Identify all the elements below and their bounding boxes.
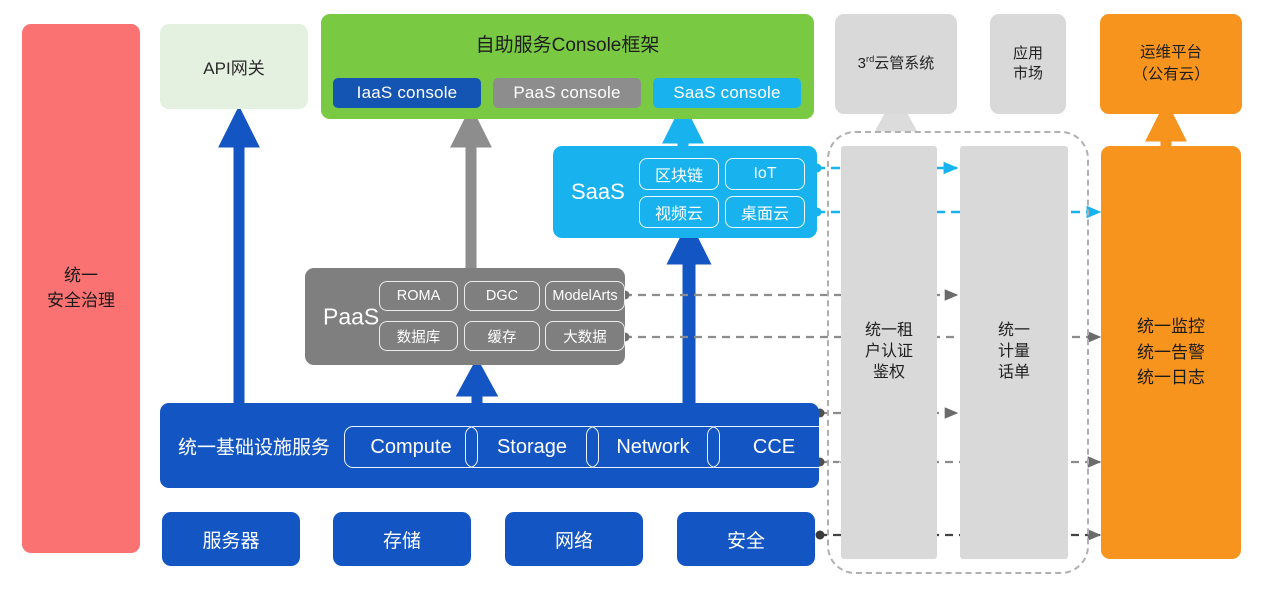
ops-pillar-line3: 统一日志 <box>1137 365 1205 391</box>
saas-chip-iot[interactable]: IoT <box>725 158 805 190</box>
unified-tenant-auth-column[interactable]: 统一租 户认证 鉴权 <box>841 146 937 559</box>
paas-chip-modelarts[interactable]: ModelArts <box>545 281 625 311</box>
paas-chip-roma[interactable]: ROMA <box>379 281 458 311</box>
link-dot <box>816 531 825 540</box>
ops-platform-line2: （公有云） <box>1132 64 1210 86</box>
saas-console-chip[interactable]: SaaS console <box>653 78 801 108</box>
infrastructure-label: 统一基础设施服务 <box>178 432 330 459</box>
third-party-cloud-mgmt-box[interactable]: 3rd云管系统 <box>835 14 957 114</box>
arrow-infra-to-api-gateway <box>227 118 251 403</box>
arrow-infra-to-paas <box>465 369 489 403</box>
paas-layer: PaaS ROMA DGC ModelArts 数据库 缓存 大数据 <box>305 268 625 365</box>
tenant-auth-line3: 鉴权 <box>873 363 905 384</box>
api-gateway-label: API网关 <box>203 54 264 79</box>
third-cloud-label: 3rd云管系统 <box>858 53 935 74</box>
security-pillar-line1: 统一 <box>64 264 98 289</box>
hardware-box-security[interactable]: 安全 <box>677 512 815 566</box>
saas-chip-blockchain[interactable]: 区块链 <box>639 158 719 190</box>
paas-chip-database[interactable]: 数据库 <box>379 321 458 351</box>
iaas-console-chip[interactable]: IaaS console <box>333 78 481 108</box>
app-market-box[interactable]: 应用 市场 <box>990 14 1066 114</box>
infra-chip-cce[interactable]: CCE <box>707 426 841 468</box>
infra-chip-storage[interactable]: Storage <box>465 426 599 468</box>
tenant-auth-line1: 统一租 <box>865 321 913 342</box>
unified-ops-pillar: 统一监控 统一告警 统一日志 <box>1101 146 1241 559</box>
tenant-auth-line2: 户认证 <box>865 342 913 363</box>
api-gateway-box[interactable]: API网关 <box>160 24 308 109</box>
console-frame-title: 自助服务Console框架 <box>321 30 814 57</box>
saas-chip-desktop-cloud[interactable]: 桌面云 <box>725 196 805 228</box>
ops-pillar-line2: 统一告警 <box>1137 340 1205 366</box>
ops-platform-line1: 运维平台 <box>1140 42 1202 64</box>
paas-console-chip[interactable]: PaaS console <box>493 78 641 108</box>
infra-chip-network[interactable]: Network <box>586 426 720 468</box>
ops-platform-public-cloud-box[interactable]: 运维平台 （公有云） <box>1100 14 1242 114</box>
app-market-line2: 市场 <box>1013 64 1043 84</box>
arrow-infra-to-saas <box>677 234 701 403</box>
ops-pillar-line1: 统一监控 <box>1137 314 1205 340</box>
security-governance-pillar: 统一 安全治理 <box>22 24 140 553</box>
paas-chip-dgc[interactable]: DGC <box>464 281 540 311</box>
arrow-saas-to-saas-console <box>671 114 695 150</box>
paas-layer-label: PaaS <box>323 303 379 330</box>
saas-layer: SaaS 区块链 IoT 视频云 桌面云 <box>553 146 817 238</box>
paas-chip-bigdata[interactable]: 大数据 <box>545 321 625 351</box>
hardware-box-storage[interactable]: 存储 <box>333 512 471 566</box>
arrow-paas-to-console <box>459 118 483 268</box>
metering-line3: 话单 <box>998 363 1030 384</box>
unified-metering-column[interactable]: 统一 计量 话单 <box>960 146 1068 559</box>
paas-chip-cache[interactable]: 缓存 <box>464 321 540 351</box>
arrow-to-ops-platform <box>1154 112 1178 146</box>
metering-line1: 统一 <box>998 321 1030 342</box>
hardware-box-network[interactable]: 网络 <box>505 512 643 566</box>
self-service-console-frame: 自助服务Console框架 IaaS console PaaS console … <box>321 14 814 119</box>
saas-chip-video-cloud[interactable]: 视频云 <box>639 196 719 228</box>
app-market-line1: 应用 <box>1013 44 1043 64</box>
saas-layer-label: SaaS <box>571 179 625 205</box>
unified-infrastructure-layer: 统一基础设施服务 Compute Storage Network CCE <box>160 403 819 488</box>
security-pillar-line2: 安全治理 <box>47 289 115 314</box>
infra-chip-compute[interactable]: Compute <box>344 426 478 468</box>
metering-line2: 计量 <box>998 342 1030 363</box>
hardware-box-server[interactable]: 服务器 <box>162 512 300 566</box>
architecture-diagram: 统一 安全治理 API网关 自助服务Console框架 IaaS console… <box>0 0 1265 605</box>
